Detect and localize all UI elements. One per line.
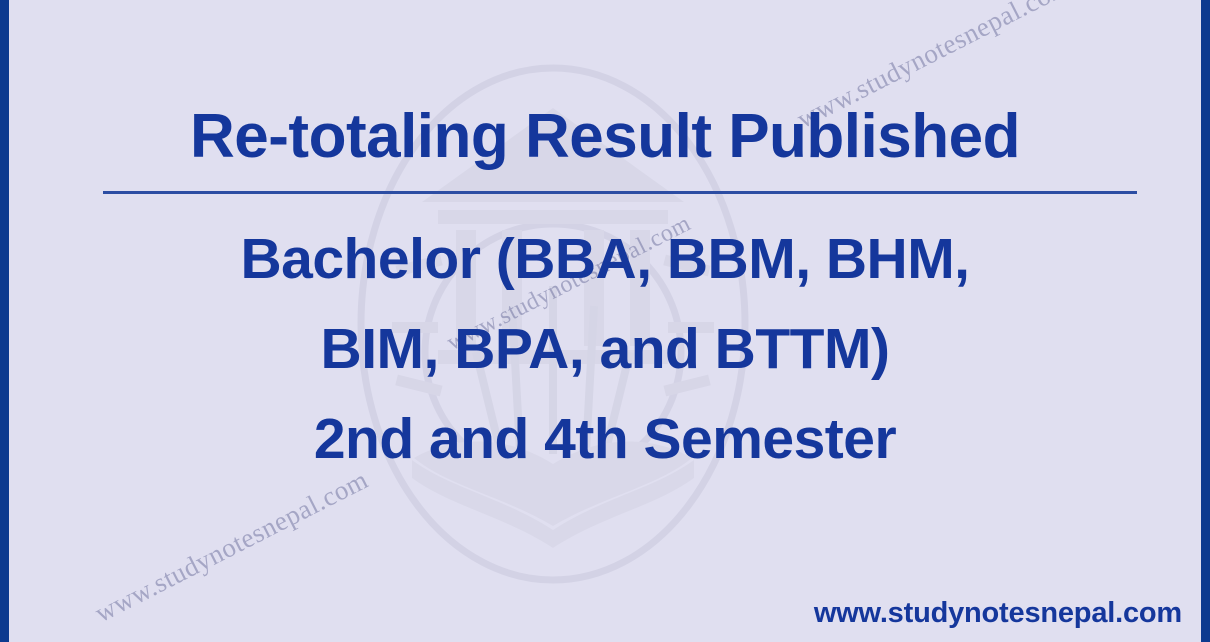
site-url-label: www.studynotesnepal.com (814, 597, 1182, 630)
page-subtitle: Bachelor (BBA, BBM, BHM, BIM, BPA, and B… (0, 214, 1210, 484)
subtitle-line-1: Bachelor (BBA, BBM, BHM, (0, 214, 1210, 304)
page-title: Re-totaling Result Published (0, 106, 1210, 168)
poster-canvas: www.studynotesnepal.com www.studynotesne… (0, 0, 1210, 642)
title-underline-rule (103, 191, 1137, 194)
right-accent-stripe (1201, 0, 1210, 642)
left-accent-stripe (0, 0, 9, 642)
subtitle-line-3: 2nd and 4th Semester (0, 394, 1210, 484)
poster-content: Re-totaling Result Published Bachelor (B… (0, 0, 1210, 642)
subtitle-line-2: BIM, BPA, and BTTM) (0, 304, 1210, 394)
